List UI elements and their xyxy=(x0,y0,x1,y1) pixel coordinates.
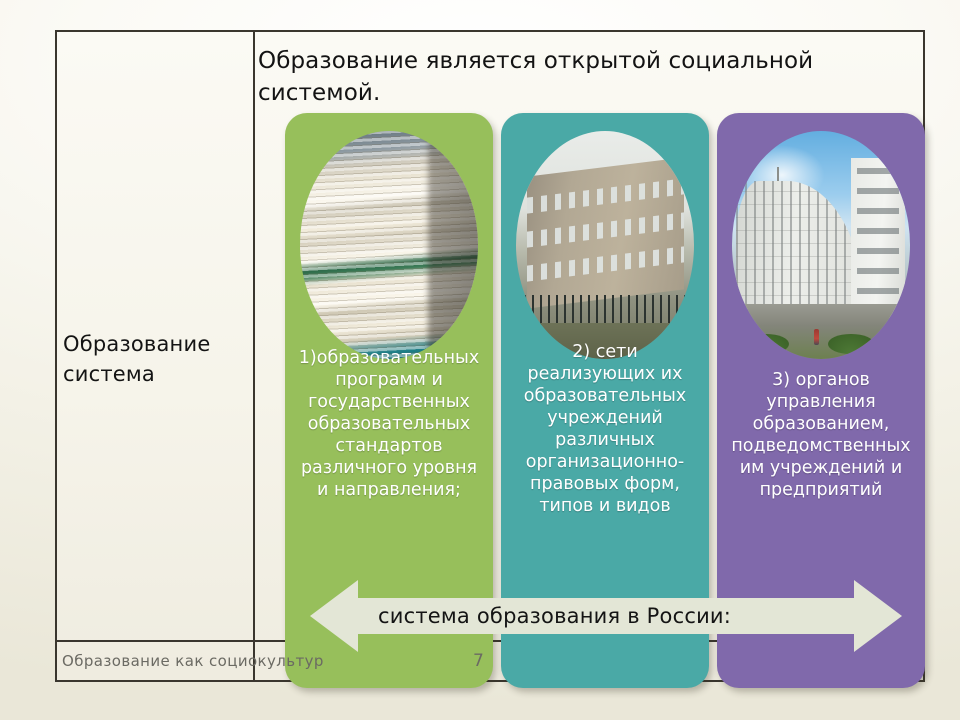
card-text: 1)образовательных программ и государстве… xyxy=(293,347,485,501)
row-label-education-system: Образование система xyxy=(63,330,248,390)
double-headed-arrow-banner: система образования в России: xyxy=(310,576,902,656)
facade-window-grid xyxy=(736,181,864,309)
card-text: 3) органов управления образованием, подв… xyxy=(725,369,917,501)
wing-window-grid xyxy=(857,168,900,308)
page-number: 7 xyxy=(473,651,484,671)
slide-title: Образование является открытой социальной… xyxy=(258,46,898,109)
arrow-banner-label: система образования в России: xyxy=(310,576,902,656)
government-building-photo xyxy=(732,131,910,359)
table-column-divider xyxy=(253,32,255,680)
building-wing xyxy=(851,158,904,318)
stack-of-documents-photo xyxy=(300,131,478,359)
footer-note: Образование как социокультур xyxy=(62,652,324,670)
school-fence xyxy=(516,295,694,325)
slide-canvas: Образование является открытой социальной… xyxy=(0,0,960,720)
pedestrian xyxy=(814,329,819,345)
card-text: 2) сети реализующих их образовательных у… xyxy=(509,341,701,517)
school-building-photo xyxy=(516,131,694,359)
curved-facade xyxy=(736,181,864,309)
